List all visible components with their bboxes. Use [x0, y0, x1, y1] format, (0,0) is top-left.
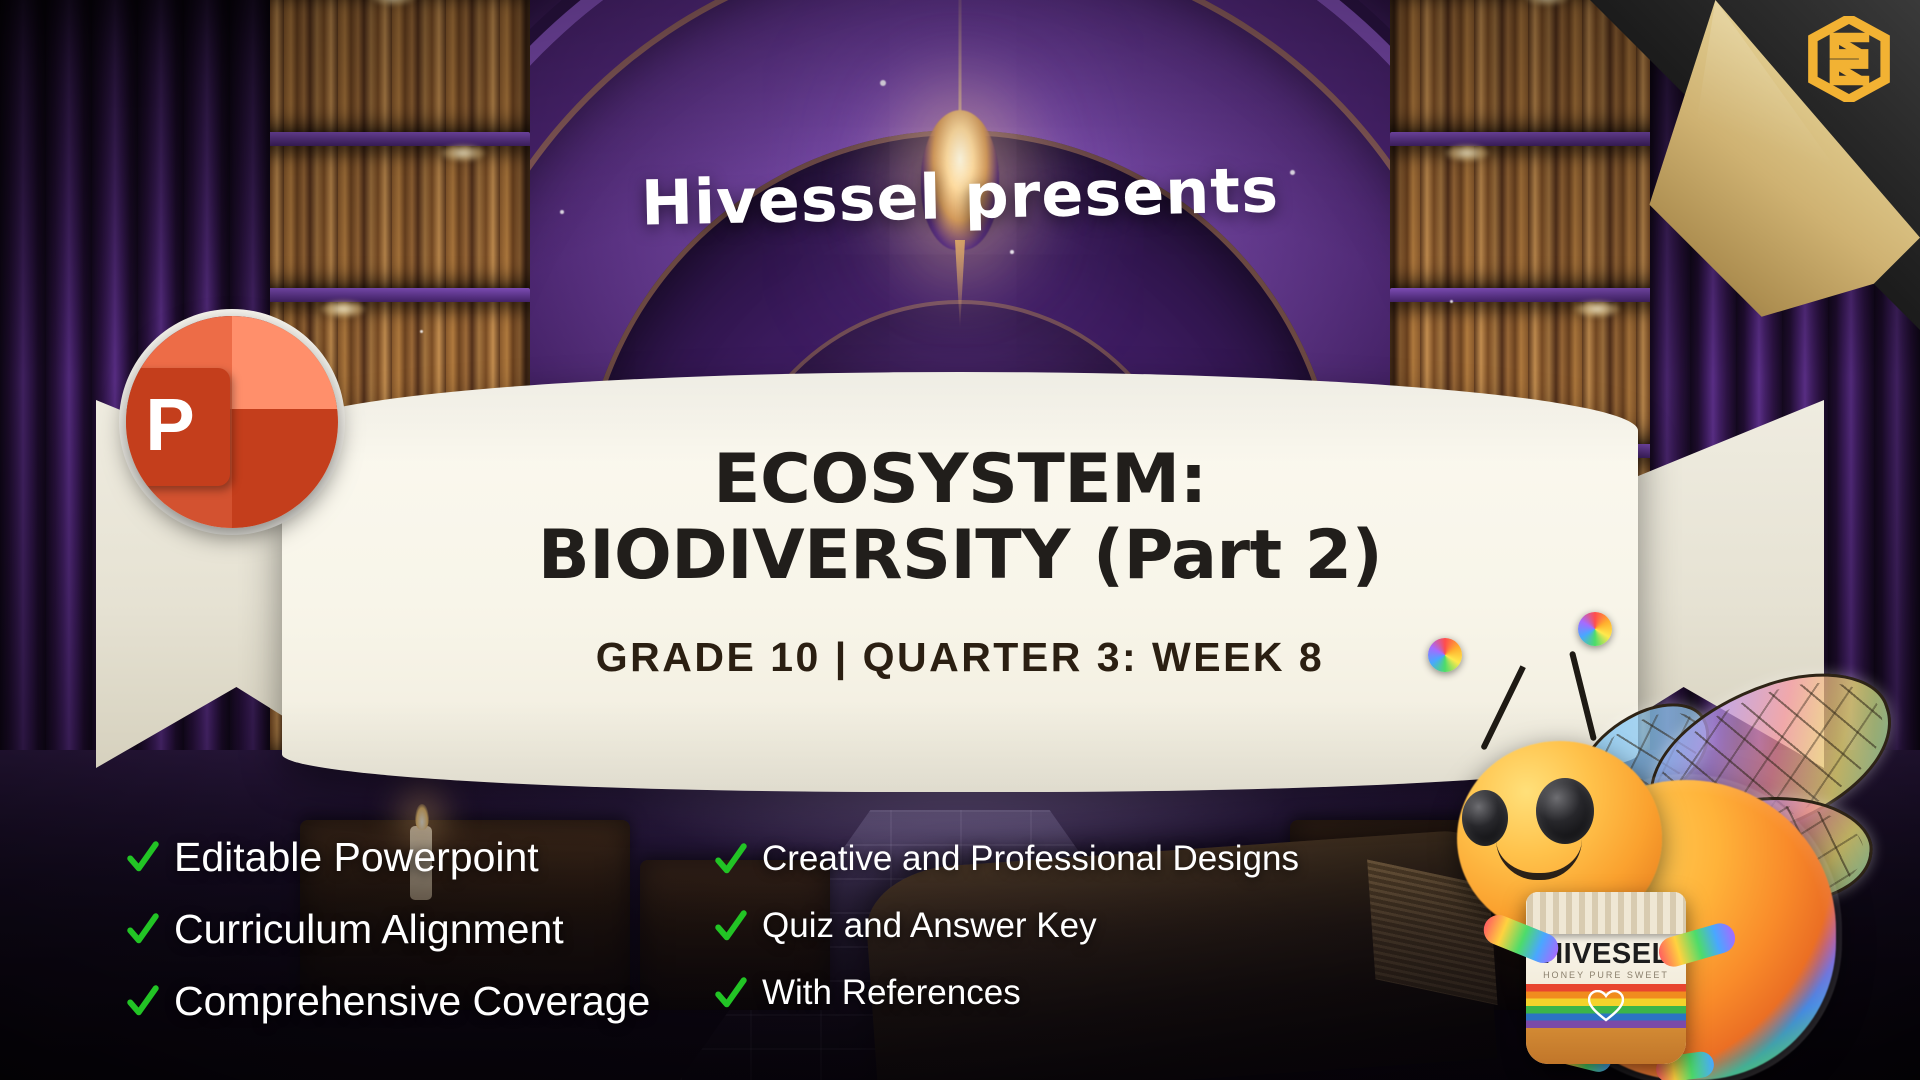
list-item: Quiz and Answer Key [714, 897, 1299, 954]
powerpoint-letter: P [145, 388, 194, 462]
check-icon [714, 842, 748, 876]
list-item: With References [714, 964, 1299, 1021]
bee-antenna-right [1569, 651, 1597, 742]
slide-canvas: Hivessel presents ECOSYSTEM: BIODIVERSIT… [0, 0, 1920, 1080]
bee-antenna-ball-right [1578, 612, 1612, 646]
check-icon [714, 976, 748, 1010]
rainbow-bee-mascot: HIVESEL HONEY PURE SWEET [1452, 656, 1912, 1080]
bee-antenna-left [1480, 665, 1526, 750]
bee-antenna-ball-left [1428, 638, 1462, 672]
feature-column-left: Editable Powerpoint Curriculum Alignment… [126, 826, 666, 1032]
list-item: Editable Powerpoint [126, 826, 666, 888]
jar-lid [1526, 892, 1686, 934]
check-icon [126, 984, 160, 1018]
feature-label: With References [762, 973, 1021, 1013]
heart-icon [1588, 990, 1624, 1022]
bee-eye-right [1536, 778, 1594, 844]
banner-text-block: ECOSYSTEM: BIODIVERSITY (Part 2) GRADE 1… [96, 446, 1824, 681]
feature-label: Curriculum Alignment [174, 906, 564, 953]
bee-eye-left [1462, 790, 1508, 846]
title-line-2: BIODIVERSITY (Part 2) [96, 522, 1824, 590]
feature-label: Creative and Professional Designs [762, 839, 1299, 879]
list-item: Comprehensive Coverage [126, 970, 666, 1032]
honey-jar: HIVESEL HONEY PURE SWEET [1526, 892, 1686, 1064]
powerpoint-letter-tile: P [126, 368, 230, 486]
powerpoint-icon[interactable]: P [126, 316, 338, 528]
hexagon-monogram-logo-icon[interactable] [1806, 16, 1892, 102]
title-line-1: ECOSYSTEM: [79, 446, 1842, 514]
feature-label: Editable Powerpoint [174, 834, 539, 881]
check-icon [126, 912, 160, 946]
feature-column-right: Creative and Professional Designs Quiz a… [714, 830, 1299, 1032]
feature-label: Quiz and Answer Key [762, 906, 1097, 946]
list-item: Creative and Professional Designs [714, 830, 1299, 887]
check-icon [126, 840, 160, 874]
feature-label: Comprehensive Coverage [174, 978, 650, 1025]
jar-sub-text: HONEY PURE SWEET [1526, 970, 1686, 980]
check-icon [714, 909, 748, 943]
feature-list: Editable Powerpoint Curriculum Alignment… [126, 826, 1386, 1032]
list-item: Curriculum Alignment [126, 898, 666, 960]
